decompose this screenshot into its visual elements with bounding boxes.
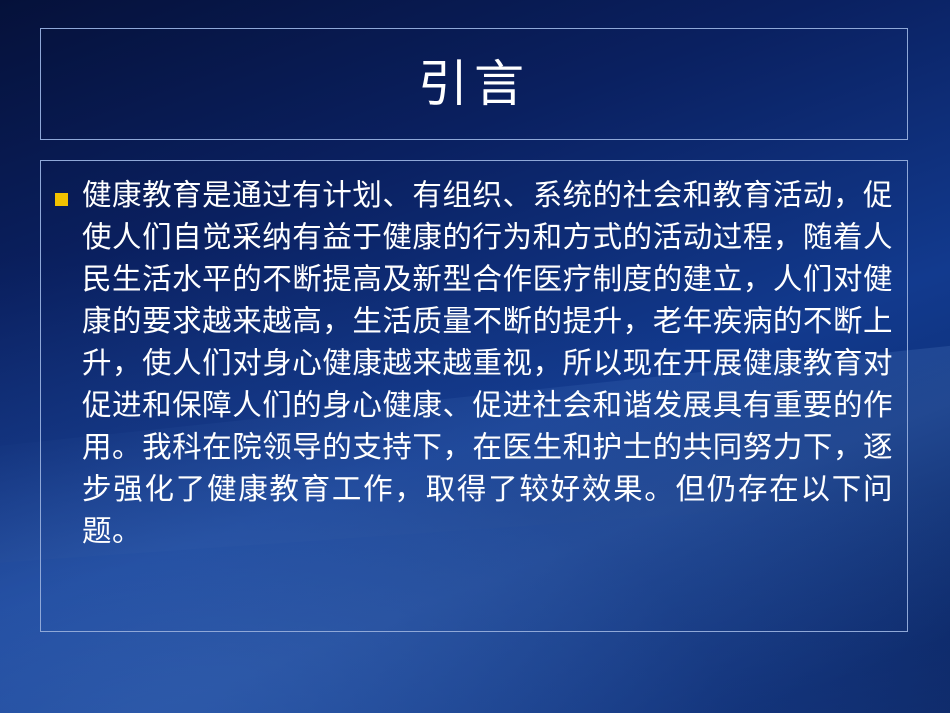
- bullet-paragraph: 健康教育是通过有计划、有组织、系统的社会和教育活动，促使人们自觉采纳有益于健康的…: [82, 175, 893, 553]
- presentation-slide: 引言 健康教育是通过有计划、有组织、系统的社会和教育活动，促使人们自觉采纳有益于…: [0, 0, 950, 713]
- slide-content-box: 健康教育是通过有计划、有组织、系统的社会和教育活动，促使人们自觉采纳有益于健康的…: [40, 160, 908, 632]
- list-item: 健康教育是通过有计划、有组织、系统的社会和教育活动，促使人们自觉采纳有益于健康的…: [55, 175, 893, 553]
- square-bullet-icon: [55, 193, 68, 206]
- slide-title: 引言: [418, 57, 530, 112]
- slide-title-box: 引言: [40, 28, 908, 140]
